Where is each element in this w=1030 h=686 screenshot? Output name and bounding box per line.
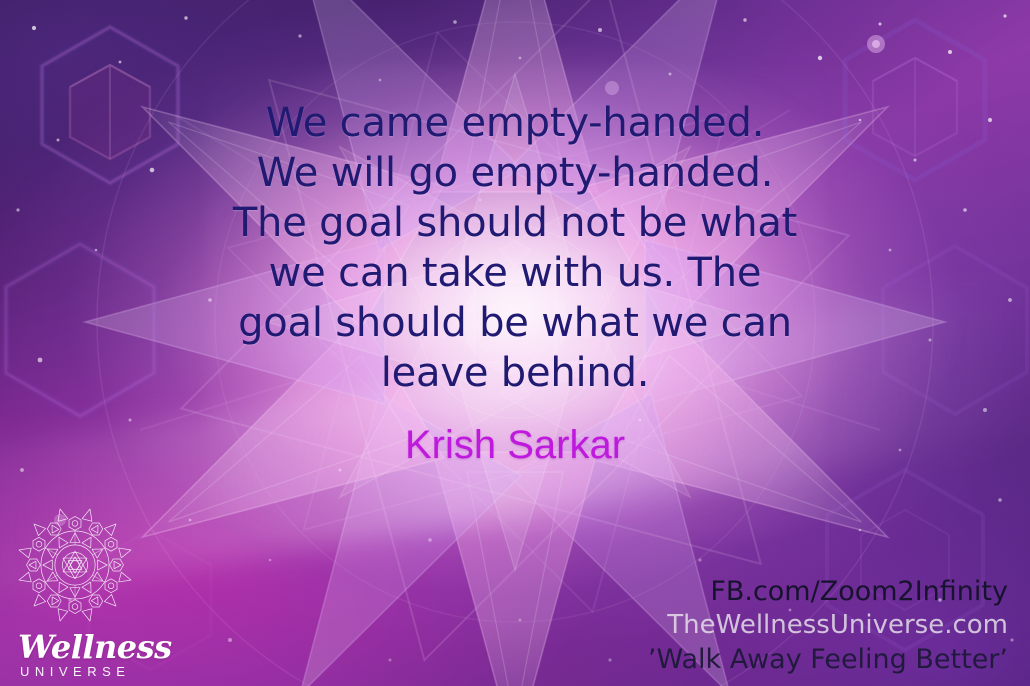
- quote-line-4: we can take with us. The: [22, 248, 1008, 298]
- logo-wordmark: Wellness: [18, 630, 156, 664]
- footer-credits: FB.com/Zoom2Infinity TheWellnessUniverse…: [648, 575, 1008, 678]
- quote-line-1: We came empty-handed.: [22, 98, 1008, 148]
- quote-line-3: The goal should not be what: [22, 198, 1008, 248]
- wellness-universe-logo[interactable]: Wellness UNIVERSE: [6, 502, 156, 680]
- quote-author: Krish Sarkar: [22, 422, 1008, 468]
- mandala-logo-icon: [12, 502, 138, 628]
- logo-subtitle: UNIVERSE: [20, 664, 156, 680]
- quote-line-5: goal should be what we can: [22, 298, 1008, 348]
- quote-block: We came empty-handed. We will go empty-h…: [0, 98, 1030, 468]
- quote-line-2: We will go empty-handed.: [22, 148, 1008, 198]
- quote-graphic-canvas: We came empty-handed. We will go empty-h…: [0, 0, 1030, 686]
- tagline: ’Walk Away Feeling Better’: [648, 642, 1008, 678]
- quote-line-6: leave behind.: [22, 348, 1008, 398]
- website-url[interactable]: TheWellnessUniverse.com: [648, 609, 1008, 642]
- facebook-handle[interactable]: FB.com/Zoom2Infinity: [648, 575, 1008, 609]
